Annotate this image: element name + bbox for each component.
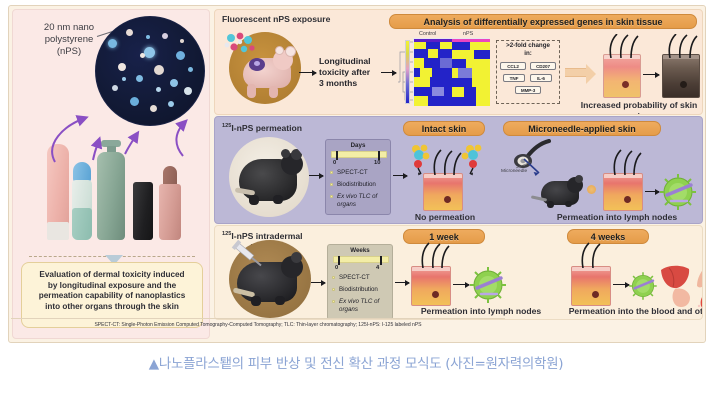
panel1-tag: Fluorescent nPS exposure (222, 14, 330, 25)
panel1-step-label: Longitudinal toxicity after 3 months (319, 56, 381, 89)
arrow-mouse-to-timeline-panel3 (311, 282, 325, 283)
panel2-banner-intact-skin: Intact skin (403, 121, 485, 136)
panel2-banner-microneedle-skin: Microneedle-applied skin (503, 121, 661, 136)
lotion-tube-cap (47, 222, 69, 240)
syringe-icon (229, 240, 269, 276)
step-label-line-1: Longitudinal (319, 56, 381, 67)
panel2-caption-lymph: Permeation into lymph nodes (537, 212, 697, 223)
nanoparticle-dot (122, 77, 126, 81)
timeline-bullet (332, 276, 335, 279)
panel3-timeline-end: 4 (376, 265, 379, 271)
lymph-node-icon (657, 171, 699, 213)
skin-block-1week (411, 266, 451, 306)
timeline-bullet (330, 171, 333, 174)
timeline-bullet (330, 195, 333, 198)
caption-text: 나노플라스퇱의 피부 반상 및 전신 확산 과정 모식도 (사진=원자력의학원) (159, 356, 563, 372)
arrow-mouse-to-step (299, 72, 316, 73)
panel-nps-intradermal-injection: 125I-nPS intradermal injection 1 week 4 … (214, 225, 703, 320)
timeline-bullet (330, 183, 333, 186)
nanoparticle-dot (144, 47, 155, 58)
black-mouse-circle (229, 137, 309, 217)
hair-follicles-4weeks-icon (571, 242, 611, 268)
gene-pill-cd207: CD207 (530, 62, 556, 70)
microneedle-skin-block (603, 173, 643, 211)
panel3-timeline-bar (333, 256, 389, 263)
panel2-tag: 125I-nPS permeation (222, 121, 302, 134)
timeline-tick-end (378, 151, 380, 160)
gene-pill-tnf: TNF (503, 74, 525, 82)
timeline-tick-start (338, 256, 340, 265)
fold-change-title: >2-fold change in: (496, 42, 560, 57)
nanoparticle-dot (184, 87, 192, 95)
arrow-timeline-to-skin-1week (395, 282, 409, 283)
nanoparticle-dot (180, 39, 184, 43)
hair-follicles-aged-icon (662, 34, 700, 58)
nanoparticle-dot (126, 29, 133, 36)
panel2-caption-no-permeation: No permeation (405, 212, 485, 223)
panel2-timeline-item-2: Biodistribution (337, 181, 376, 189)
microneedle-glow-marker (587, 185, 596, 194)
hair-follicles-young-icon (603, 34, 641, 58)
panel3-timeline-item-2: Biodistribution (339, 286, 378, 294)
nanoparticle-dot (162, 33, 168, 39)
arrow-step-to-heatmap (381, 72, 396, 73)
fold-change-line-2: in: (496, 50, 560, 58)
skin-block-aged (662, 54, 700, 98)
left-overview-panel: 20 nm nano polystyrene (nPS) (12, 9, 210, 339)
arrow-genes-to-skin (565, 68, 587, 77)
intact-skin-block (423, 173, 463, 211)
microneedle-treated-mouse (531, 175, 585, 209)
panel2-timeline-start: 0 (333, 160, 336, 166)
panel2-timeline-bar (331, 151, 387, 158)
roll-on-bottle-label (72, 208, 92, 240)
timeline-tick-start (336, 151, 338, 160)
nanoparticle-dot (112, 85, 118, 91)
gene-pill-il6: IL-6 (530, 74, 552, 82)
hair-follicles-1week-icon (411, 242, 451, 268)
heatmap-color-scale (405, 40, 410, 104)
arrow-mouse-to-timeline-panel2 (309, 175, 323, 176)
panel2-timeline-card: Days 0 10 SPECT-CT Biodistribution Ex vi… (325, 139, 391, 215)
nanoparticle-dot (154, 65, 164, 75)
microneedle-leader-line (515, 161, 533, 171)
panel-nps-permeation: 125I-nPS permeation Intact skin Micronee… (214, 116, 703, 224)
panel3-timeline-item-3: Ex vivo TLC of organs (339, 298, 391, 313)
panel3-caption-4weeks: Permeation into the blood and other orga… (563, 306, 703, 317)
panel3-timeline-start: 0 (335, 265, 338, 271)
screenshot-root: 20 nm nano polystyrene (nPS) (0, 0, 712, 409)
hair-follicles-microneedle-icon (603, 149, 643, 175)
nanoparticle-dot (156, 87, 161, 92)
panel2-timeline-end: 10 (374, 160, 380, 166)
skin-block-4weeks (571, 266, 611, 306)
nanoparticle-dot (136, 75, 143, 82)
lymph-node-icon-4weeks (627, 270, 659, 302)
nanoparticle-dot (118, 63, 126, 71)
panel2-tag-text: I-nPS permeation (231, 123, 302, 133)
step-label-line-3: 3 months (319, 78, 381, 89)
panel2-timeline-unit: Days (326, 142, 390, 149)
fluorescent-nps-cluster-icon (223, 32, 257, 58)
nanoparticle-dot (176, 51, 185, 60)
arrow-young-to-aged (643, 74, 659, 75)
lipstick-bullet (163, 166, 177, 186)
evaluation-line-2: by longitudinal exposure and the (28, 281, 196, 292)
nanoparticle-dot (108, 39, 117, 48)
timeline-tick-end (380, 256, 382, 265)
mascara-tube (133, 182, 153, 240)
gene-pill-mmp3: MMP-3 (515, 86, 541, 94)
panel3-isotope-superscript: 125 (222, 231, 231, 237)
panel3-caption-1week: Permeation into lymph nodes (401, 306, 561, 317)
nps-label-line-1: 20 nm nano (23, 22, 115, 34)
panel1-banner: Analysis of differentially expressed gen… (389, 14, 697, 29)
evaluation-line-3: permeation capability of nanoplastics (28, 291, 196, 302)
timeline-bullet (332, 288, 335, 291)
triangle-marker-icon: ▲ (149, 356, 159, 372)
arrow-timeline-to-intact-skin (393, 175, 407, 176)
lipstick-case (159, 184, 181, 240)
panel1-outcome-caption: Increased probability of skin aging (575, 100, 703, 115)
panel2-timeline-item-3: Ex vivo TLC of organs (337, 193, 389, 208)
hair-follicles-intact-icon (423, 149, 463, 175)
gene-expression-heatmap (413, 38, 489, 106)
panel-fluorescent-nps-exposure: Fluorescent nPS exposure Analysis of dif… (214, 9, 703, 115)
gene-pill-ccl2: CCL2 (500, 62, 526, 70)
timeline-bullet (332, 300, 335, 303)
nanoparticle-dot (140, 53, 145, 58)
graphical-abstract-figure: 20 nm nano polystyrene (nPS) (8, 5, 706, 343)
nanoparticle-dot (170, 79, 178, 87)
evaluation-line-4: into other organs through the skin (28, 302, 196, 313)
panel3-timeline-unit: Weeks (328, 247, 392, 254)
footnote-divider (11, 318, 505, 319)
uptake-arrows (33, 104, 203, 166)
panel3-timeline-card: Weeks 0 4 SPECT-CT Biodistribution Ex vi… (327, 244, 393, 320)
blocked-nps-right-icon (461, 143, 485, 177)
nanoparticle-dot (146, 35, 150, 39)
skin-block-young (603, 54, 641, 98)
nanoparticle-dot (188, 67, 193, 72)
step-label-line-2: toxicity after (319, 67, 381, 78)
heatmap-label-nps: nPS (463, 31, 473, 37)
fold-change-line-1: >2-fold change (496, 42, 560, 50)
lymph-node-icon-1week (467, 264, 509, 306)
figure-caption-korean: ▲나노플라스퇱의 피부 반상 및 전신 확산 과정 모식도 (사진=원자력의학원… (0, 352, 712, 372)
panel2-isotope-superscript: 125 (222, 123, 231, 129)
heatmap-label-control: Control (419, 31, 436, 37)
panel3-timeline-item-1: SPECT-CT (339, 274, 370, 282)
figure-footnote: SPECT-CT: Single-Photon Emission Compute… (11, 322, 505, 329)
panel2-timeline-item-1: SPECT-CT (337, 169, 368, 177)
evaluation-line-1: Evaluation of dermal toxicity induced (28, 270, 196, 281)
